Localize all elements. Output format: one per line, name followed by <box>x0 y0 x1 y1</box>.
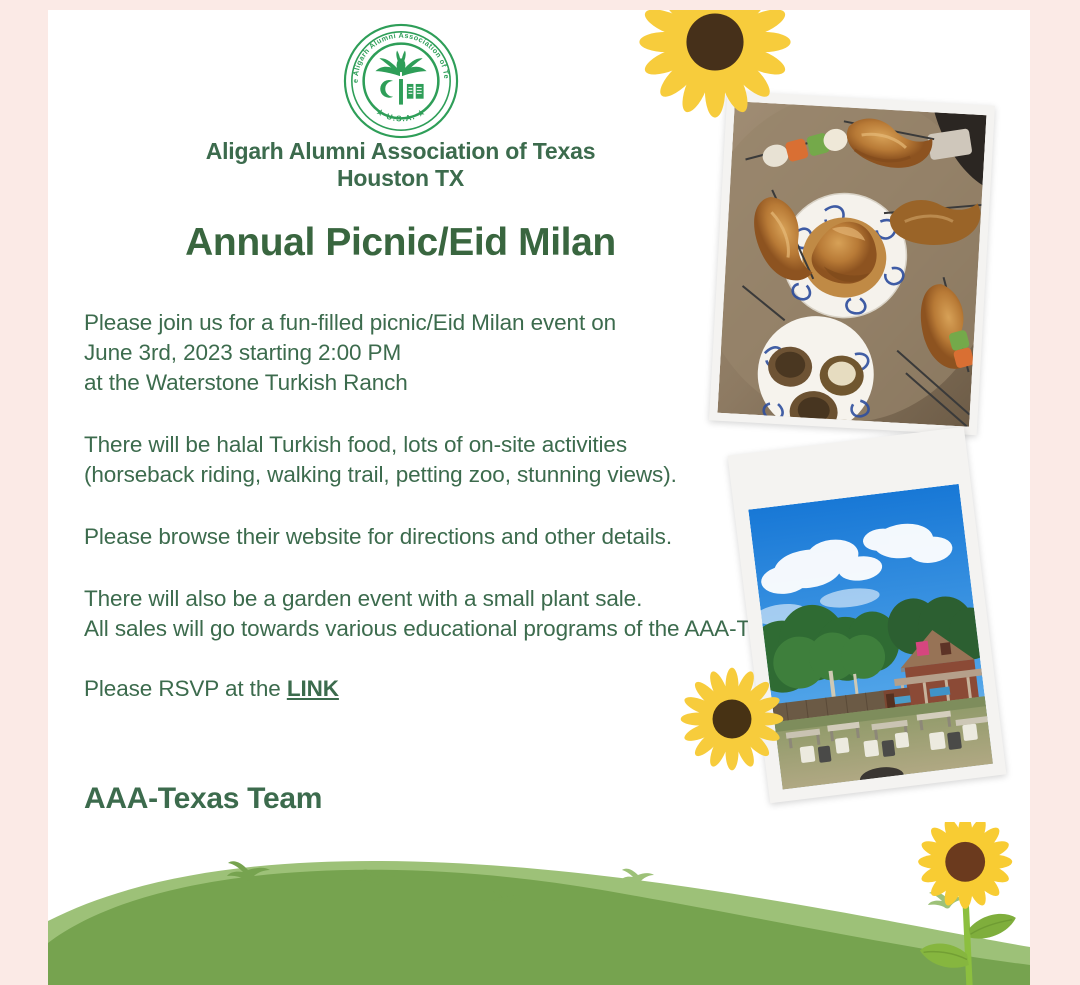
sunflower-bottom-icon <box>893 822 1030 985</box>
flyer-card: The Aligarh Alumni Association of Texas … <box>48 10 1030 985</box>
food-photo-image <box>717 101 986 427</box>
aaa-texas-circular-seal-logo-icon: The Aligarh Alumni Association of Texas … <box>342 22 460 140</box>
paragraph-garden-event: There will also be a garden event with a… <box>84 584 844 644</box>
sunflower-middle-icon <box>673 660 791 778</box>
flyer-page: The Aligarh Alumni Association of Texas … <box>0 0 1080 985</box>
svg-text:★ U.S.A. ★: ★ U.S.A. ★ <box>373 106 427 123</box>
rsvp-link[interactable]: LINK <box>287 676 339 701</box>
rsvp-prefix-text: Please RSVP at the <box>84 676 287 701</box>
page-title: Annual Picnic/Eid Milan <box>48 221 753 265</box>
paragraph-website: Please browse their website for directio… <box>84 522 844 552</box>
food-photo <box>709 91 995 435</box>
green-hills-decoration <box>48 825 1030 985</box>
signature-team-name: AAA-Texas Team <box>84 782 322 816</box>
sunflower-top-icon <box>631 10 799 126</box>
organization-name: Aligarh Alumni Association of Texas Hous… <box>48 138 753 192</box>
